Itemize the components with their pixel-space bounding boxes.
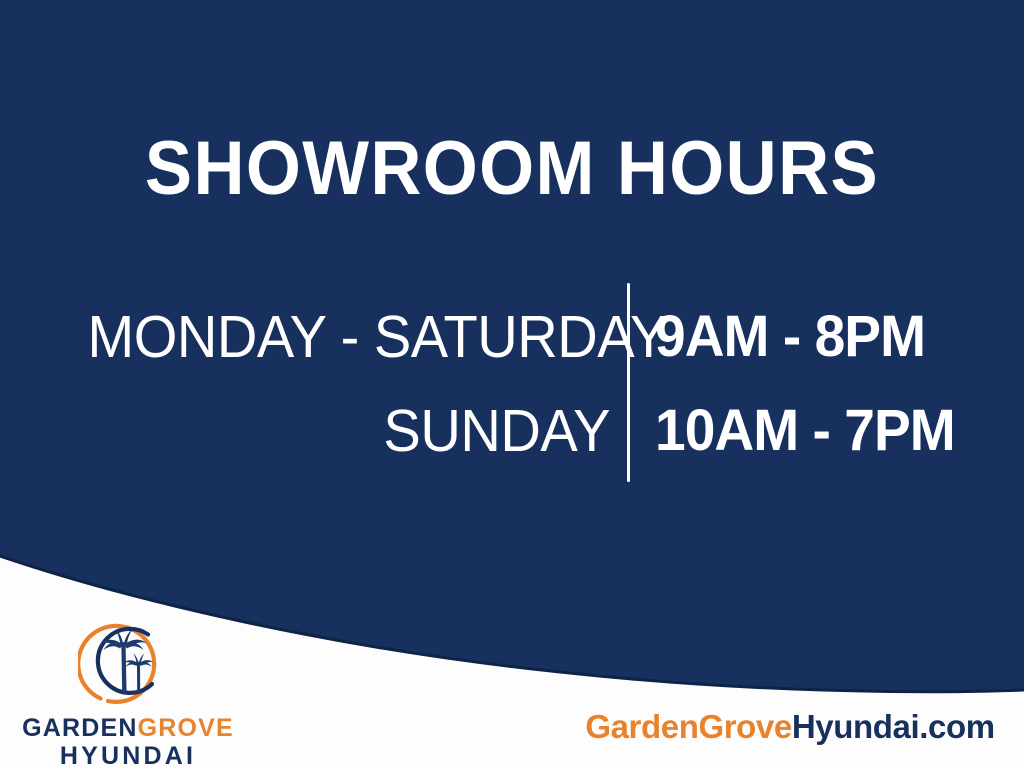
- hours-table: MONDAY - SATURDAY 9AM - 8PM SUNDAY 10AM …: [60, 283, 970, 483]
- hours-row: MONDAY - SATURDAY 9AM - 8PM: [60, 289, 970, 385]
- hours-days-label: MONDAY - SATURDAY: [88, 306, 611, 368]
- logo-wordmark-line1: GARDENGROVE: [8, 714, 248, 742]
- showroom-hours-poster: SHOWROOM HOURS MONDAY - SATURDAY 9AM - 8…: [0, 0, 1024, 768]
- logo-word-grove: GROVE: [138, 714, 234, 742]
- hours-row: SUNDAY 10AM - 7PM: [60, 383, 970, 479]
- page-title: SHOWROOM HOURS: [36, 128, 988, 210]
- logo-word-garden: GARDEN: [22, 714, 138, 742]
- hours-time-value: 9AM - 8PM: [655, 306, 925, 368]
- logo-word-hyundai: HYUNDAI: [8, 742, 248, 768]
- hours-time-value: 10AM - 7PM: [655, 400, 955, 462]
- palm-tree-circle-emblem: [78, 618, 170, 710]
- website-url-domain: Hyundai.com: [792, 708, 995, 745]
- website-url[interactable]: GardenGroveHyundai.com: [560, 708, 1020, 746]
- website-url-brand: GardenGrove: [585, 708, 792, 745]
- dealership-logo: GARDENGROVE HYUNDAI: [8, 618, 248, 766]
- logo-wordmark: GARDENGROVE HYUNDAI: [8, 714, 248, 768]
- hours-days-label: SUNDAY: [88, 400, 611, 462]
